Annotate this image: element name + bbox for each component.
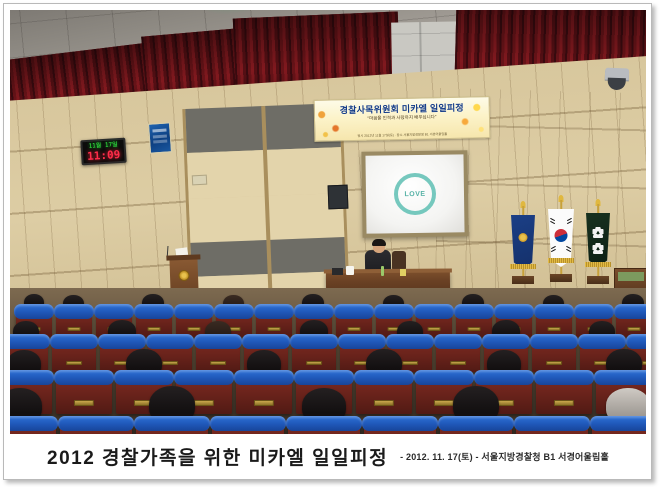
seat-number-plate <box>554 400 574 405</box>
auditorium-seat <box>60 422 132 434</box>
seat-cushion <box>594 370 646 385</box>
auditorium-seat <box>616 310 646 337</box>
seat-cushion <box>386 334 434 349</box>
seat-number-plate <box>428 327 441 331</box>
seat-cushion <box>234 370 294 385</box>
seat-number-plate <box>374 400 394 405</box>
seat-cushion <box>54 370 114 385</box>
seat-cushion <box>362 416 438 431</box>
seat-cushion <box>534 370 594 385</box>
police-emblem-icon <box>178 270 189 281</box>
seat-cushion <box>482 334 530 349</box>
auditorium-seat <box>532 340 576 372</box>
seat-cushion <box>174 370 234 385</box>
caption-title: 2012 경찰가족을 위한 미카엘 일일피정 <box>47 443 388 470</box>
seat-number-plate <box>194 400 214 405</box>
korean-national-flag <box>545 200 577 276</box>
seat-number-plate <box>402 361 418 365</box>
seat-cushion <box>578 334 626 349</box>
auditorium-seat <box>336 310 372 337</box>
seat-number-plate <box>546 361 562 365</box>
police-flag <box>508 206 538 278</box>
seat-cushion <box>214 304 254 319</box>
wall-speaker <box>328 185 349 210</box>
seat-number-plate <box>450 361 466 365</box>
auditorium-seat <box>288 422 360 434</box>
seat-cushion <box>414 304 454 319</box>
seat-cushion <box>414 370 474 385</box>
table-book <box>400 269 406 276</box>
auditorium-seat <box>356 376 412 414</box>
auditorium-seat <box>516 422 588 434</box>
seat-cushion <box>114 370 174 385</box>
auditorium-seat <box>56 310 92 337</box>
seat-number-plate <box>162 361 178 365</box>
led-wall-clock: 11월 17일 11:09 <box>80 138 126 166</box>
caption-subtitle: - 2012. 11. 17(토) - 서울지방경찰청 B1 서경어울림홀 <box>400 450 609 463</box>
auditorium-seat <box>256 310 292 337</box>
seat-cushion <box>334 304 374 319</box>
seat-cushion <box>134 304 174 319</box>
seat-number-plate <box>468 327 481 331</box>
auditorium-seat <box>212 422 284 434</box>
seat-cushion <box>534 304 574 319</box>
seat-cushion <box>530 334 578 349</box>
seat-cushion <box>14 304 54 319</box>
seat-cushion <box>574 304 614 319</box>
seat-cushion <box>174 304 214 319</box>
auditorium-seat <box>52 340 96 372</box>
auditorium-seat <box>364 422 436 434</box>
auditorium-photograph: 경찰사목위원회 미카엘 일일피정 "마음을 인격과 사랑까지 배우십니다" 일시… <box>10 10 646 434</box>
seat-cushion <box>254 304 294 319</box>
security-camera-icon <box>605 68 629 81</box>
seat-cushion <box>98 334 146 349</box>
seat-cushion <box>374 304 414 319</box>
seat-cushion <box>290 334 338 349</box>
seat-cushion <box>434 334 482 349</box>
seat-cushion <box>54 304 94 319</box>
auditorium-seat <box>136 422 208 434</box>
seat-number-plate <box>348 327 361 331</box>
seat-cushion <box>10 370 54 385</box>
seat-number-plate <box>548 327 561 331</box>
seat-cushion <box>50 334 98 349</box>
wall-notice <box>192 175 208 186</box>
seat-cushion <box>146 334 194 349</box>
auditorium-seat <box>10 422 56 434</box>
seat-cushion <box>94 304 134 319</box>
seat-cushion <box>514 416 590 431</box>
auditorium-seat <box>136 310 172 337</box>
seat-cushion <box>242 334 290 349</box>
seat-number-plate <box>642 361 646 365</box>
seat-number-plate <box>148 327 161 331</box>
seat-cushion <box>134 416 210 431</box>
green-emblem-flag <box>583 204 613 278</box>
seat-number-plate <box>254 400 274 405</box>
seat-number-plate <box>66 361 82 365</box>
table-bottle <box>381 266 384 276</box>
seat-cushion <box>590 416 646 431</box>
seat-cushion <box>286 416 362 431</box>
seat-cushion <box>438 416 514 431</box>
seat-cushion <box>58 416 134 431</box>
blue-wall-sign <box>148 122 172 153</box>
auditorium-seat <box>292 340 336 372</box>
seat-cushion <box>10 416 58 431</box>
projection-screen-surface: LOVE <box>365 154 464 233</box>
caption-bar: 2012 경찰가족을 위한 미카엘 일일피정 - 2012. 11. 17(토)… <box>10 438 646 475</box>
speaker-hair <box>372 239 386 246</box>
seat-number-plate <box>68 327 81 331</box>
seat-number-plate <box>210 361 226 365</box>
seat-number-plate <box>306 361 322 365</box>
seat-cushion <box>494 304 534 319</box>
led-clock-time: 11:09 <box>87 149 121 162</box>
table-laptop <box>332 268 343 275</box>
projection-screen: LOVE <box>361 150 468 237</box>
seat-cushion <box>194 334 242 349</box>
seat-cushion <box>10 334 50 349</box>
auditorium-seat <box>592 422 646 434</box>
auditorium-seat <box>456 310 492 337</box>
auditorium-seat <box>536 376 592 414</box>
seat-cushion <box>454 304 494 319</box>
seat-cushion <box>474 370 534 385</box>
auditorium-seat <box>236 376 292 414</box>
seat-number-plate <box>628 327 641 331</box>
seat-cushion <box>614 304 646 319</box>
auditorium-seat <box>536 310 572 337</box>
seat-cushion <box>294 304 334 319</box>
table-cup <box>346 266 354 275</box>
seat-cushion <box>626 334 646 349</box>
seat-number-plate <box>434 400 454 405</box>
auditorium-seat <box>440 422 512 434</box>
seat-cushion <box>294 370 354 385</box>
seat-cushion <box>210 416 286 431</box>
seat-number-plate <box>268 327 281 331</box>
seat-number-plate <box>188 327 201 331</box>
projected-logo-text: LOVE <box>404 190 425 197</box>
seat-number-plate <box>74 400 94 405</box>
seat-cushion <box>354 370 414 385</box>
auditorium-seat <box>56 376 112 414</box>
seat-cushion <box>338 334 386 349</box>
event-banner: 경찰사목위원회 미카엘 일일피정 "마음을 인격과 사랑까지 배우십니다" 일시… <box>314 96 491 142</box>
auditorium-seat <box>436 340 480 372</box>
photo-frame: 경찰사목위원회 미카엘 일일피정 "마음을 인격과 사랑까지 배우십니다" 일시… <box>3 3 652 480</box>
auditorium-seat <box>196 340 240 372</box>
projected-logo-icon: LOVE <box>394 173 437 216</box>
